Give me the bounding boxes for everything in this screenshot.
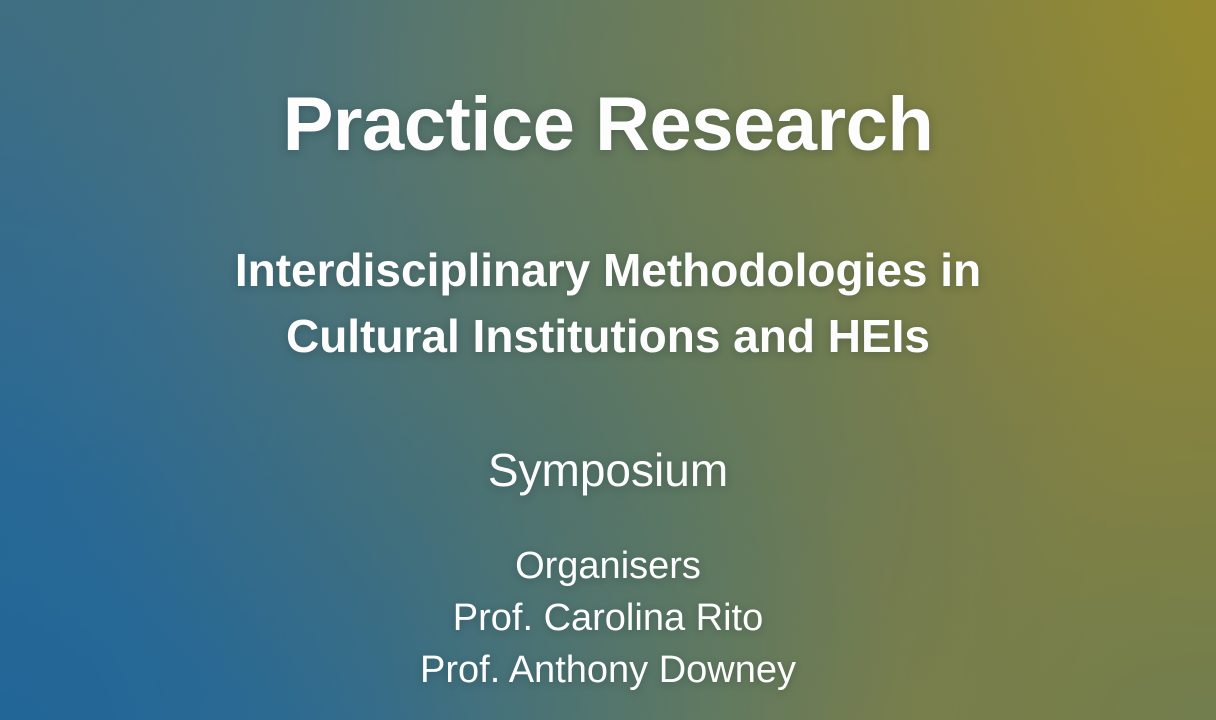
- organiser-name-1: Prof. Carolina Rito: [420, 592, 796, 644]
- subtitle-line-2: Cultural Institutions and HEIs: [235, 304, 981, 369]
- slide-content: Practice Research Interdisciplinary Meth…: [0, 0, 1216, 720]
- subtitle-line-1: Interdisciplinary Methodologies in: [235, 238, 981, 303]
- organiser-name-2: Prof. Anthony Downey: [420, 644, 796, 696]
- event-title-slide: Practice Research Interdisciplinary Meth…: [0, 0, 1216, 720]
- page-title: Practice Research: [283, 86, 934, 164]
- slide-subtitle: Interdisciplinary Methodologies in Cultu…: [235, 238, 981, 369]
- event-type-label: Symposium: [488, 445, 728, 496]
- organisers-heading: Organisers: [420, 540, 796, 592]
- organisers-block: Organisers Prof. Carolina Rito Prof. Ant…: [420, 540, 796, 696]
